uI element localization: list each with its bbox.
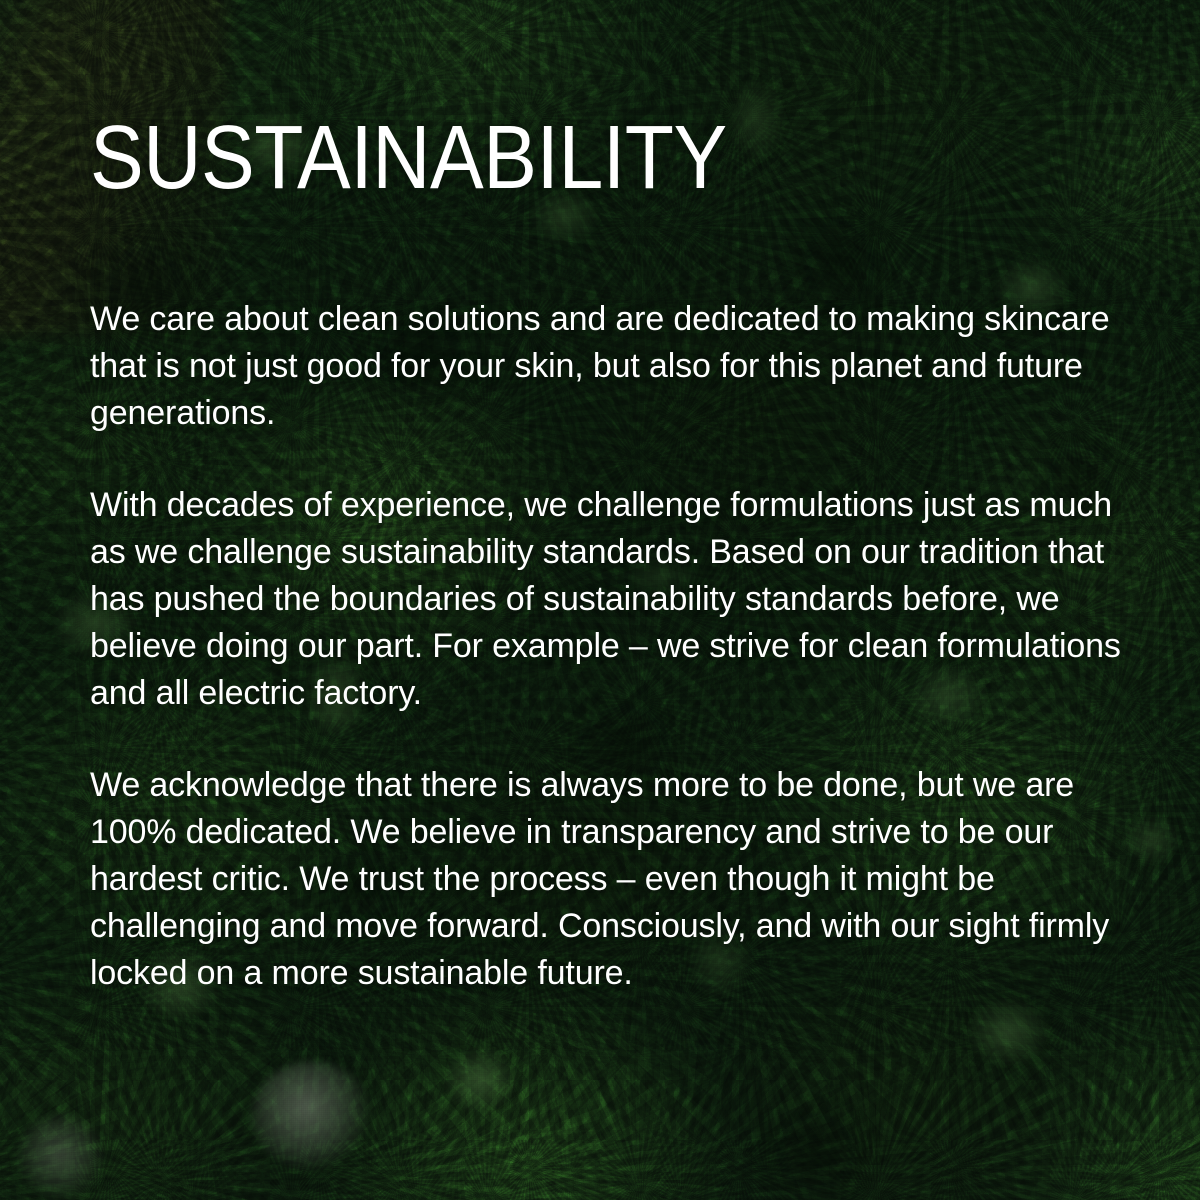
paragraph-intro: We care about clean solutions and are de… — [90, 296, 1135, 437]
body-copy: We care about clean solutions and are de… — [90, 296, 1135, 997]
paragraph-commitment: We acknowledge that there is always more… — [90, 762, 1135, 997]
page-title: SUSTAINABILITY — [90, 113, 727, 203]
paragraph-experience: With decades of experience, we challenge… — [90, 482, 1135, 717]
content-layer: SUSTAINABILITY We care about clean solut… — [0, 0, 1200, 1200]
sustainability-card: SUSTAINABILITY We care about clean solut… — [0, 0, 1200, 1200]
